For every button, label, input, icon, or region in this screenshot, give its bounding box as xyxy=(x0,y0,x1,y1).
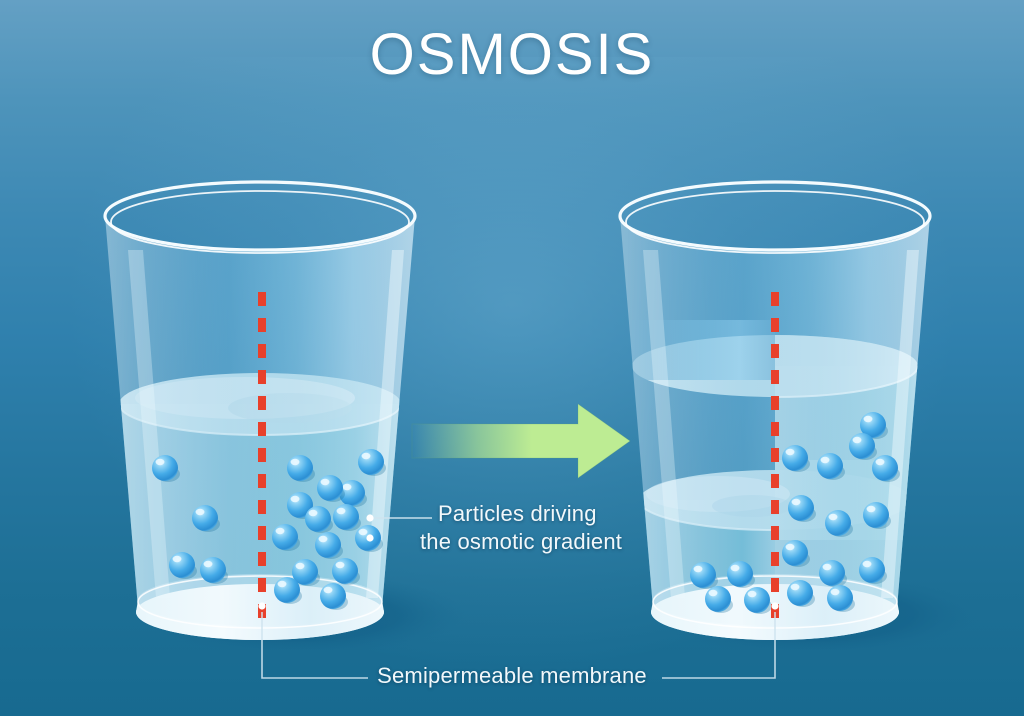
glass-after xyxy=(600,182,950,640)
illustration-canvas xyxy=(0,0,1024,716)
particles-callout-line1: Particles driving xyxy=(438,501,597,526)
glass-after-rim-outer xyxy=(620,182,930,250)
osmosis-arrow xyxy=(412,404,630,478)
glass-after-rim-inner xyxy=(626,191,924,253)
glass-before-rim-inner xyxy=(111,191,409,253)
particles-callout-label: Particles driving the osmotic gradient xyxy=(438,500,778,556)
particles-callout-line2: the osmotic gradient xyxy=(420,528,778,556)
glass-before xyxy=(100,182,420,640)
glass-before-rim-outer xyxy=(105,182,415,250)
osmosis-diagram: OSMOSIS xyxy=(0,0,1024,716)
membrane-callout-label: Semipermeable membrane xyxy=(0,662,1024,690)
